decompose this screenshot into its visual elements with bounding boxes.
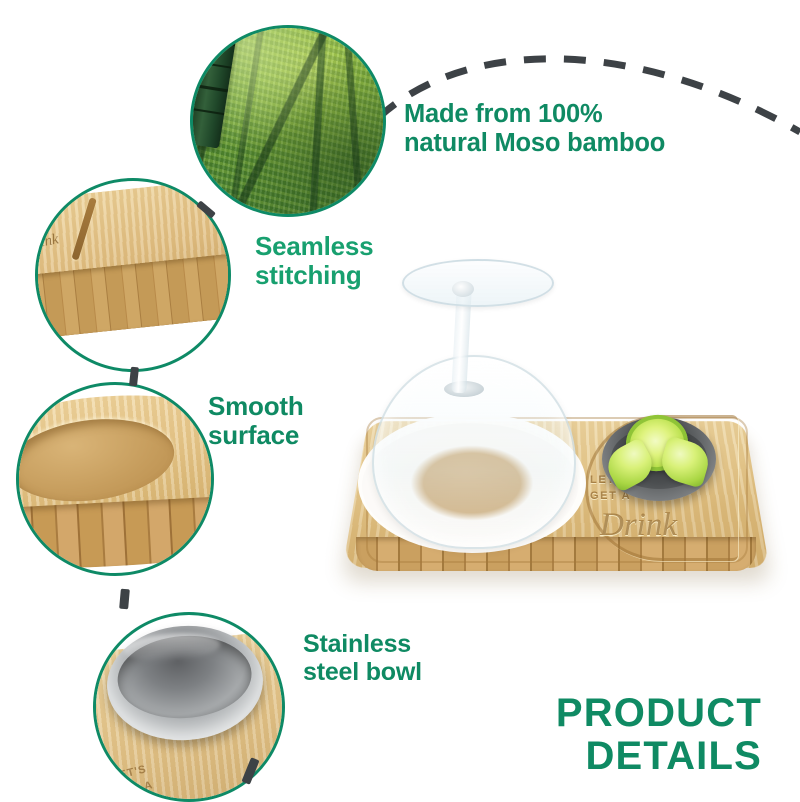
feature-image-stainless-bowl: LET'S GET A: [93, 612, 285, 802]
infographic-canvas: Drink LET'S GET A Made from 100% natural…: [0, 0, 800, 800]
stitching-groove: [72, 197, 97, 260]
connector-dash-3: [119, 589, 130, 610]
bowl-board-engraving: LET'S GET A: [109, 760, 154, 801]
feature-label-steel-bowl: Stainless steel bowl: [303, 630, 422, 686]
margarita-glass-foot: [402, 259, 554, 307]
smooth-surface-illustration: [19, 385, 211, 573]
feature-label-smooth-surface: Smooth surface: [208, 392, 304, 450]
feature-label-bamboo: Made from 100% natural Moso bamboo: [404, 100, 665, 157]
page-title: PRODUCT DETAILS: [556, 692, 762, 778]
board-engraving-script: Drink: [600, 507, 677, 544]
recessed-well: [16, 410, 180, 510]
glass-foot-knob: [452, 281, 474, 297]
feature-image-smooth-surface: [16, 382, 214, 576]
engraved-script-detail: Drink: [35, 231, 60, 254]
laminated-edge-slats: [16, 495, 214, 572]
main-product-photo: LET'S GET A Drink: [340, 245, 770, 605]
